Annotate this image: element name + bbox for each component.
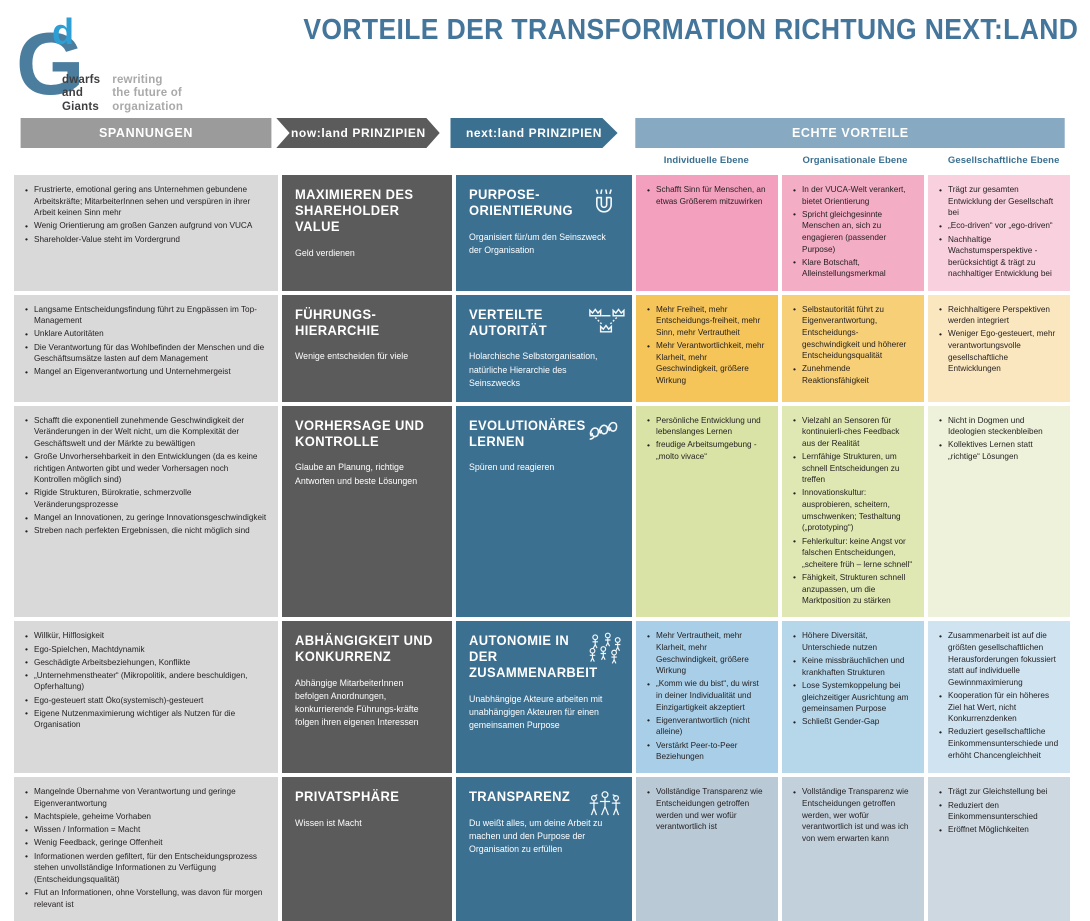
list-item: Keine missbräuchlichen und krankhaften S… bbox=[793, 655, 913, 678]
nowland-principle-title: PRIVATSPHÄRE bbox=[295, 789, 433, 805]
nextland-principle-subtitle: Organisiert für/um den Seinszweck der Or… bbox=[469, 231, 616, 257]
banner-nextland-label: next:land PRINZIPIEN bbox=[466, 126, 602, 140]
list-item: Höhere Diversität, Unterschiede nutzen bbox=[793, 630, 913, 653]
nextland-cell-autonomie: AUTONOMIE IN DER ZUSAMMENARBEITUnabhängi… bbox=[456, 621, 632, 773]
tensions-cell-lernen: Schafft die exponentiell zunehmende Gesc… bbox=[14, 406, 278, 618]
benefit-individual-list: Mehr Freiheit, mehr Entscheidungs-freihe… bbox=[647, 304, 767, 387]
nowland-cell-lernen: VORHERSAGE UND KONTROLLEGlaube an Planun… bbox=[282, 406, 452, 618]
network-people-icon bbox=[586, 631, 622, 665]
list-item: Ego-Spielchen, Machtdynamik bbox=[25, 644, 267, 656]
benefit-organisational-list: Höhere Diversität, Unterschiede nutzenKe… bbox=[793, 630, 913, 728]
nowland-principle-subtitle: Glaube an Planung, richtige Antworten un… bbox=[295, 461, 436, 487]
nowland-principle-title: VORHERSAGE UND KONTROLLE bbox=[295, 418, 433, 450]
spiral-icon bbox=[586, 416, 622, 450]
nowland-principle-subtitle: Abhängige MitarbeiterInnen befolgen Anor… bbox=[295, 677, 436, 729]
benefit-cell-societal-purpose: Trägt zur gesamten Entwicklung der Gesel… bbox=[928, 175, 1070, 291]
page-title: VORTEILE DER TRANSFORMATION RICHTUNG NEX… bbox=[303, 14, 1078, 47]
nowland-cell-purpose: MAXIMIEREN DES SHAREHOLDER VALUEGeld ver… bbox=[282, 175, 452, 291]
nextland-cell-purpose: PURPOSE-ORIENTIERUNGOrganisiert für/um d… bbox=[456, 175, 632, 291]
tensions-cell-purpose: Frustrierte, emotional gering ans Untern… bbox=[14, 175, 278, 291]
dwarfs-and-giants-logo: G d dwarfs and Giants rewriting the futu… bbox=[10, 12, 210, 104]
logo-name-line-3: Giants bbox=[62, 101, 100, 114]
logo-tagline: rewriting the future of organization bbox=[112, 74, 183, 114]
benefit-cell-individual-lernen: Persönliche Entwicklung und lebenslanges… bbox=[636, 406, 778, 618]
nowland-cell-autonomie: ABHÄNGIGKEIT UND KONKURRENZAbhängige Mit… bbox=[282, 621, 452, 773]
list-item: „Eco-driven“ vor „ego-driven“ bbox=[939, 220, 1059, 232]
logo-name-line-2: and bbox=[62, 87, 100, 100]
list-item: Eigenverantwortlich (nicht alleine) bbox=[647, 715, 767, 738]
list-item: Nachhaltige Wachstumsperspektive - berüc… bbox=[939, 234, 1059, 281]
list-item: Zunehmende Reaktionsfähigkeit bbox=[793, 363, 913, 386]
list-item: Trägt zur gesamten Entwicklung der Gesel… bbox=[939, 184, 1059, 219]
nextland-principle-title: PURPOSE-ORIENTIERUNG bbox=[469, 187, 577, 219]
list-item: Zusammenarbeit ist auf die größten gesel… bbox=[939, 630, 1059, 688]
benefit-column-headers: Individuelle Ebene Organisationale Ebene… bbox=[634, 155, 1076, 166]
benefit-individual-list: Vollständige Transparenz wie Entscheidun… bbox=[647, 786, 767, 833]
column-banner: SPANNUNGEN now:land PRINZIPIEN next:land… bbox=[14, 118, 1076, 148]
banner-nextland: next:land PRINZIPIEN bbox=[450, 118, 617, 148]
list-item: Wissen / Information = Macht bbox=[25, 824, 267, 836]
nextland-principle-subtitle: Unabhängige Akteure arbeiten mit unabhän… bbox=[469, 693, 616, 732]
list-item: Frustrierte, emotional gering ans Untern… bbox=[25, 184, 267, 219]
benefit-societal-list: Nicht in Dogmen und Ideologien steckenbl… bbox=[939, 415, 1059, 463]
list-item: Die Verantwortung für das Wohlbefinden d… bbox=[25, 342, 267, 365]
logo-name-line-1: dwarfs bbox=[62, 74, 100, 87]
benefit-cell-individual-autonomie: Mehr Vertrautheit, mehr Klarheit, mehr G… bbox=[636, 621, 778, 773]
tensions-list: Frustrierte, emotional gering ans Untern… bbox=[25, 184, 267, 245]
list-item: Flut an Informationen, ohne Vorstellung,… bbox=[25, 887, 267, 910]
list-item: Unklare Autoritäten bbox=[25, 328, 267, 340]
nextland-principle-subtitle: Du weißt alles, um deine Arbeit zu mache… bbox=[469, 817, 616, 856]
list-item: Schafft die exponentiell zunehmende Gesc… bbox=[25, 415, 267, 450]
benefit-cell-organisational-autonomie: Höhere Diversität, Unterschiede nutzenKe… bbox=[782, 621, 924, 773]
benefit-header-societal: Gesellschaftliche Ebene bbox=[931, 155, 1076, 166]
nextland-cell-transparenz: TRANSPARENZDu weißt alles, um deine Arbe… bbox=[456, 777, 632, 920]
list-item: Kollektives Lernen statt „richtige“ Lösu… bbox=[939, 439, 1059, 462]
benefit-organisational-list: In der VUCA-Welt verankert, bietet Orien… bbox=[793, 184, 913, 280]
list-item: Machtspiele, geheime Vorhaben bbox=[25, 811, 267, 823]
banner-spannungen: SPANNUNGEN bbox=[21, 118, 272, 148]
nextland-principle-title: AUTONOMIE IN DER ZUSAMMENARBEIT bbox=[469, 633, 577, 681]
nowland-principle-title: ABHÄNGIGKEIT UND KONKURRENZ bbox=[295, 633, 433, 665]
list-item: Mangel an Innovationen, zu geringe Innov… bbox=[25, 512, 267, 524]
benefit-cell-societal-transparenz: Trägt zur Gleichstellung beiReduziert de… bbox=[928, 777, 1070, 920]
list-item: Langsame Entscheidungsfindung führt zu E… bbox=[25, 304, 267, 327]
list-item: Reichhaltigere Perspektiven werden integ… bbox=[939, 304, 1059, 327]
list-item: Rigide Strukturen, Bürokratie, schmerzvo… bbox=[25, 487, 267, 510]
nowland-principle-subtitle: Geld verdienen bbox=[295, 247, 436, 260]
list-item: Fähigkeit, Strukturen schnell anzupassen… bbox=[793, 572, 913, 607]
list-item: Reduziert gesellschaftliche Einkommensun… bbox=[939, 726, 1059, 761]
list-item: Geschädigte Arbeitsbeziehungen, Konflikt… bbox=[25, 657, 267, 669]
logo-tag-line-2: the future of bbox=[112, 87, 183, 100]
list-item: Fehlerkultur: keine Angst vor falschen E… bbox=[793, 536, 913, 571]
benefit-organisational-list: Vollständige Transparenz wie Entscheidun… bbox=[793, 786, 913, 844]
nowland-cell-autoritaet: FÜHRUNGS-HIERARCHIEWenige entscheiden fü… bbox=[282, 295, 452, 402]
comparison-row: Schafft die exponentiell zunehmende Gesc… bbox=[14, 406, 1076, 618]
benefit-cell-individual-purpose: Schafft Sinn für Menschen, an etwas Größ… bbox=[636, 175, 778, 291]
list-item: Shareholder-Value steht im Vordergrund bbox=[25, 234, 267, 246]
benefit-cell-organisational-transparenz: Vollständige Transparenz wie Entscheidun… bbox=[782, 777, 924, 920]
crowns-icon bbox=[586, 305, 622, 339]
list-item: freudige Arbeitsumgebung - „molto vivace… bbox=[647, 439, 767, 462]
nowland-principle-title: FÜHRUNGS-HIERARCHIE bbox=[295, 307, 433, 339]
list-item: Mehr Vertrautheit, mehr Klarheit, mehr G… bbox=[647, 630, 767, 677]
list-item: Eröffnet Möglichkeiten bbox=[939, 824, 1059, 836]
page-header: G d dwarfs and Giants rewriting the futu… bbox=[0, 0, 1090, 115]
three-people-icon bbox=[586, 787, 622, 821]
tensions-cell-autoritaet: Langsame Entscheidungsfindung führt zu E… bbox=[14, 295, 278, 402]
list-item: Spricht gleichgesinnte Menschen an, sich… bbox=[793, 209, 913, 256]
benefit-cell-societal-lernen: Nicht in Dogmen und Ideologien steckenbl… bbox=[928, 406, 1070, 618]
list-item: Vollständige Transparenz wie Entscheidun… bbox=[647, 786, 767, 833]
list-item: Streben nach perfekten Ergebnissen, die … bbox=[25, 525, 267, 537]
list-item: Persönliche Entwicklung und lebenslanges… bbox=[647, 415, 767, 438]
nextland-principle-subtitle: Holarchische Selbstorganisation, natürli… bbox=[469, 350, 616, 389]
benefit-cell-individual-autoritaet: Mehr Freiheit, mehr Entscheidungs-freihe… bbox=[636, 295, 778, 402]
logo-tag-line-3: organization bbox=[112, 101, 183, 114]
benefit-header-individual: Individuelle Ebene bbox=[634, 155, 779, 166]
list-item: Wenig Orientierung am großen Ganzen aufg… bbox=[25, 220, 267, 232]
nextland-principle-title: EVOLUTIONÄRES LERNEN bbox=[469, 418, 577, 450]
benefit-cell-organisational-autoritaet: Selbstautorität führt zu Eigenverantwort… bbox=[782, 295, 924, 402]
nowland-principle-subtitle: Wissen ist Macht bbox=[295, 817, 436, 830]
comparison-row: Frustrierte, emotional gering ans Untern… bbox=[14, 175, 1076, 291]
list-item: Vollständige Transparenz wie Entscheidun… bbox=[793, 786, 913, 844]
comparison-row: Langsame Entscheidungsfindung führt zu E… bbox=[14, 295, 1076, 402]
tensions-list: Mangelnde Übernahme von Verantwortung un… bbox=[25, 786, 267, 910]
list-item: Selbstautorität führt zu Eigenverantwort… bbox=[793, 304, 913, 362]
magnet-icon bbox=[586, 185, 622, 219]
benefit-societal-list: Trägt zur Gleichstellung beiReduziert de… bbox=[939, 786, 1059, 836]
banner-nowland-label: now:land PRINZIPIEN bbox=[291, 126, 426, 140]
nextland-cell-autoritaet: VERTEILTE AUTORITÄTHolarchische Selbstor… bbox=[456, 295, 632, 402]
benefit-societal-list: Reichhaltigere Perspektiven werden integ… bbox=[939, 304, 1059, 375]
list-item: Große Unvorhersehbarkeit in den Entwickl… bbox=[25, 451, 267, 486]
nextland-principle-subtitle: Spüren und reagieren bbox=[469, 461, 616, 474]
list-item: Mangelnde Übernahme von Verantwortung un… bbox=[25, 786, 267, 809]
logo-company-name: dwarfs and Giants bbox=[62, 74, 100, 114]
logo-wordmark: dwarfs and Giants rewriting the future o… bbox=[62, 74, 183, 114]
list-item: Lernfähige Strukturen, um schnell Entsch… bbox=[793, 451, 913, 486]
tensions-list: Langsame Entscheidungsfindung führt zu E… bbox=[25, 304, 267, 378]
nowland-principle-subtitle: Wenige entscheiden für viele bbox=[295, 350, 436, 363]
tensions-cell-autonomie: Willkür, HilflosigkeitEgo-Spielchen, Mac… bbox=[14, 621, 278, 773]
list-item: Kooperation für ein höheres Ziel hat Wer… bbox=[939, 690, 1059, 725]
benefit-cell-organisational-lernen: Vielzahl an Sensoren für kontinuierli-ch… bbox=[782, 406, 924, 618]
benefit-cell-individual-transparenz: Vollständige Transparenz wie Entscheidun… bbox=[636, 777, 778, 920]
list-item: „Unternehmenstheater“ (Mikropolitik, and… bbox=[25, 670, 267, 693]
list-item: Trägt zur Gleichstellung bei bbox=[939, 786, 1059, 798]
list-item: Nicht in Dogmen und Ideologien steckenbl… bbox=[939, 415, 1059, 438]
tensions-list: Willkür, HilflosigkeitEgo-Spielchen, Mac… bbox=[25, 630, 267, 731]
banner-echte-vorteile: ECHTE VORTEILE bbox=[635, 118, 1064, 148]
tensions-list: Schafft die exponentiell zunehmende Gesc… bbox=[25, 415, 267, 537]
list-item: Mehr Freiheit, mehr Entscheidungs-freihe… bbox=[647, 304, 767, 339]
list-item: Wenig Feedback, geringe Offenheit bbox=[25, 837, 267, 849]
list-item: Reduziert den Einkommensunterschied bbox=[939, 800, 1059, 823]
list-item: Informationen werden gefiltert, für den … bbox=[25, 851, 267, 886]
nextland-cell-lernen: EVOLUTIONÄRES LERNENSpüren und reagieren bbox=[456, 406, 632, 618]
nowland-cell-transparenz: PRIVATSPHÄREWissen ist Macht bbox=[282, 777, 452, 920]
list-item: Willkür, Hilflosigkeit bbox=[25, 630, 267, 642]
list-item: Ego-gesteuert statt Öko(systemisch)-gest… bbox=[25, 695, 267, 707]
benefit-organisational-list: Selbstautorität führt zu Eigenverantwort… bbox=[793, 304, 913, 387]
list-item: Klare Botschaft, Alleinstellungsmerkmal bbox=[793, 257, 913, 280]
benefit-societal-list: Trägt zur gesamten Entwicklung der Gesel… bbox=[939, 184, 1059, 280]
benefit-individual-list: Mehr Vertrautheit, mehr Klarheit, mehr G… bbox=[647, 630, 767, 763]
banner-echte-vorteile-label: ECHTE VORTEILE bbox=[792, 126, 909, 140]
list-item: Mehr Verantwortlichkeit, mehr Klarheit, … bbox=[647, 340, 767, 387]
benefit-cell-organisational-purpose: In der VUCA-Welt verankert, bietet Orien… bbox=[782, 175, 924, 291]
tensions-cell-transparenz: Mangelnde Übernahme von Verantwortung un… bbox=[14, 777, 278, 920]
svg-text:d: d bbox=[52, 12, 74, 52]
nowland-principle-title: MAXIMIEREN DES SHAREHOLDER VALUE bbox=[295, 187, 433, 235]
list-item: Verstärkt Peer-to-Peer Beziehungen bbox=[647, 740, 767, 763]
benefit-cell-societal-autonomie: Zusammenarbeit ist auf die größten gesel… bbox=[928, 621, 1070, 773]
benefit-individual-list: Schafft Sinn für Menschen, an etwas Größ… bbox=[647, 184, 767, 207]
comparison-row: Mangelnde Übernahme von Verantwortung un… bbox=[14, 777, 1076, 920]
comparison-grid: Frustrierte, emotional gering ans Untern… bbox=[14, 175, 1076, 921]
nextland-principle-title: VERTEILTE AUTORITÄT bbox=[469, 307, 577, 339]
banner-spannungen-label: SPANNUNGEN bbox=[99, 126, 193, 140]
list-item: „Komm wie du bist“, du wirst in deiner I… bbox=[647, 678, 767, 713]
benefit-cell-societal-autoritaet: Reichhaltigere Perspektiven werden integ… bbox=[928, 295, 1070, 402]
list-item: Innovationskultur: ausprobieren, scheite… bbox=[793, 487, 913, 534]
benefit-societal-list: Zusammenarbeit ist auf die größten gesel… bbox=[939, 630, 1059, 761]
list-item: Mangel an Eigenverantwortung und Unterne… bbox=[25, 366, 267, 378]
list-item: Vielzahl an Sensoren für kontinuierli-ch… bbox=[793, 415, 913, 450]
benefit-header-organisational: Organisationale Ebene bbox=[783, 155, 928, 166]
list-item: Schließt Gender-Gap bbox=[793, 716, 913, 728]
banner-nowland: now:land PRINZIPIEN bbox=[276, 118, 439, 148]
benefit-individual-list: Persönliche Entwicklung und lebenslanges… bbox=[647, 415, 767, 463]
logo-tag-line-1: rewriting bbox=[112, 74, 183, 87]
list-item: In der VUCA-Welt verankert, bietet Orien… bbox=[793, 184, 913, 207]
list-item: Eigene Nutzenmaximierung wichtiger als N… bbox=[25, 708, 267, 731]
list-item: Lose Systemkoppelung bei gleichzeitiger … bbox=[793, 680, 913, 715]
list-item: Schafft Sinn für Menschen, an etwas Größ… bbox=[647, 184, 767, 207]
benefit-organisational-list: Vielzahl an Sensoren für kontinuierli-ch… bbox=[793, 415, 913, 607]
nextland-principle-title: TRANSPARENZ bbox=[469, 789, 577, 805]
comparison-row: Willkür, HilflosigkeitEgo-Spielchen, Mac… bbox=[14, 621, 1076, 773]
list-item: Weniger Ego-gesteuert, mehr verantwortun… bbox=[939, 328, 1059, 375]
